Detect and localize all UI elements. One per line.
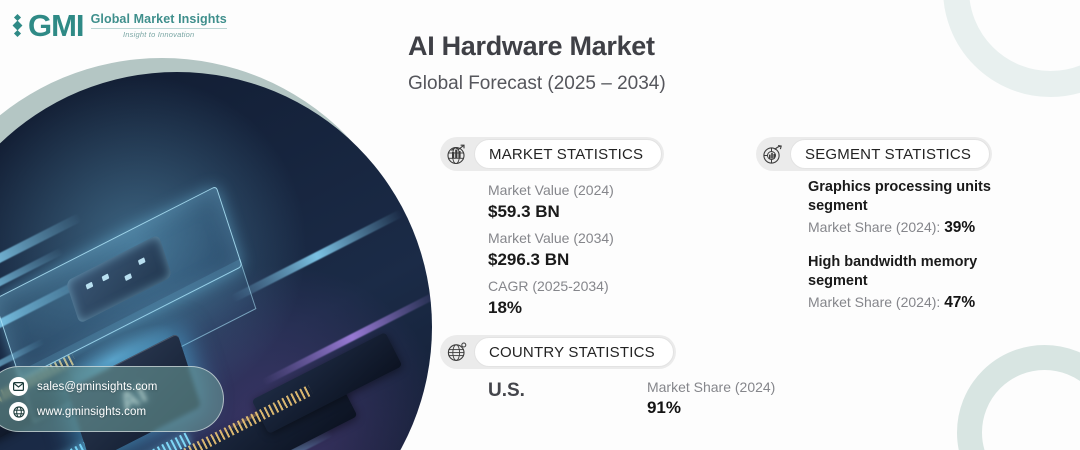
page-title: AI Hardware Market [408,31,655,62]
segment-name: Graphics processing units segment [808,178,1024,216]
contact-website-text: www.gminsights.com [37,406,146,418]
country-share-label: Market Share (2024) [647,378,775,397]
pie-chart-arrow-icon [756,137,790,171]
contact-email-text: sales@gminsights.com [37,381,157,393]
country-statistics-block: U.S. Market Share (2024) 91% [488,378,775,419]
market-stat-label: Market Value (2024) [488,180,614,200]
segment-share-label: Market Share (2024): [808,294,940,310]
envelope-icon [9,377,28,396]
country-share-value: 91% [647,397,775,419]
country-share-group: Market Share (2024) 91% [647,378,775,419]
brand-logo[interactable]: GMI Global Market Insights Insight to In… [14,10,227,41]
globe-bar-chart-icon [440,137,474,171]
market-stat-label: CAGR (2025-2034) [488,276,614,296]
logo-wordmark: Global Market Insights Insight to Innova… [91,12,227,39]
logo-diamond-mark [14,15,21,36]
section-label-market-statistics: MARKET STATISTICS [474,139,662,169]
segment-share: Market Share (2024): 47% [808,291,1024,314]
section-label-segment-statistics: SEGMENT STATISTICS [790,139,990,169]
decorative-ring-bottom [957,345,1080,450]
segment-item: Graphics processing units segment Market… [808,178,1024,239]
segment-statistics-list: Graphics processing units segment Market… [808,178,1024,328]
logo-gmi-text: GMI [28,10,84,41]
segment-share-label: Market Share (2024): [808,219,940,235]
segment-name: High bandwidth memory segment [808,253,1024,291]
market-statistics-list: Market Value (2024) $59.3 BN Market Valu… [488,180,614,324]
section-header-country-statistics: COUNTRY STATISTICS [440,335,676,369]
hero-artwork: AI sales@gminsights.com [0,0,432,450]
logo-company-name: Global Market Insights [91,12,227,26]
logo-divider [91,28,227,29]
segment-item: High bandwidth memory segment Market Sha… [808,253,1024,314]
market-stat-value: $296.3 BN [488,248,614,272]
market-stat-row: CAGR (2025-2034) 18% [488,276,614,324]
market-stat-value: $59.3 BN [488,200,614,224]
infographic-root: AI sales@gminsights.com [0,0,1080,450]
section-header-market-statistics: MARKET STATISTICS [440,137,664,171]
segment-share-value: 47% [944,294,975,311]
market-stat-row: Market Value (2024) $59.3 BN [488,180,614,228]
contact-email-row[interactable]: sales@gminsights.com [9,377,223,396]
market-stat-value: 18% [488,296,614,320]
segment-share-value: 39% [944,219,975,236]
contact-badge: sales@gminsights.com www.gminsights.com [0,366,224,432]
section-header-segment-statistics: SEGMENT STATISTICS [756,137,992,171]
decorative-ring-top [943,0,1080,97]
market-stat-row: Market Value (2034) $296.3 BN [488,228,614,276]
segment-share: Market Share (2024): 39% [808,216,1024,239]
market-stat-label: Market Value (2034) [488,228,614,248]
page-subtitle: Global Forecast (2025 – 2034) [408,73,666,95]
section-label-country-statistics: COUNTRY STATISTICS [474,337,674,367]
country-name: U.S. [488,378,525,404]
logo-tagline: Insight to Innovation [91,30,227,39]
contact-website-row[interactable]: www.gminsights.com [9,402,223,421]
globe-icon [9,402,28,421]
globe-icon [440,335,474,369]
